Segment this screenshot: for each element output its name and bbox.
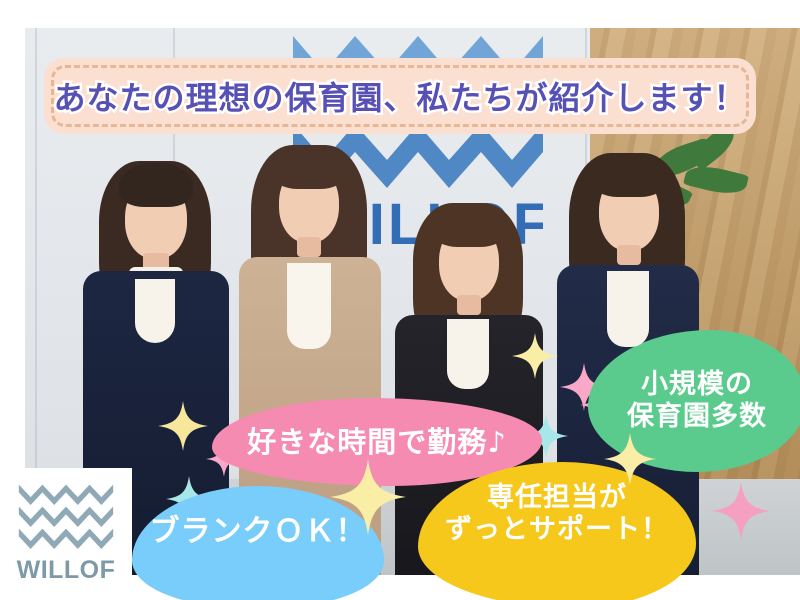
bubble-line-1: ブランクＯＫ！ (150, 514, 367, 550)
headline-text: あなたの理想の保育園、私たちが紹介します！ (44, 73, 756, 119)
bubble-line-1: 小規模の (627, 369, 767, 401)
advertisement-banner: WILLOF (0, 0, 800, 600)
willof-wordmark: WILLOF (17, 556, 116, 585)
bubble-line-1: 好きな時間で勤務♪ (247, 425, 507, 460)
bubble-dedicated-support: 専任担当が ずっとサポート！ (418, 462, 696, 600)
headline-banner: あなたの理想の保育園、私たちが紹介します！ (44, 58, 756, 134)
bubble-line-2: 保育園多数 (627, 401, 767, 433)
zigzag-wave-logo-icon (18, 483, 114, 549)
bubble-line-2: ずっとサポート！ (445, 514, 669, 546)
willof-logo: WILLOF (0, 468, 132, 600)
bubble-line-1: 専任担当が (445, 482, 669, 514)
